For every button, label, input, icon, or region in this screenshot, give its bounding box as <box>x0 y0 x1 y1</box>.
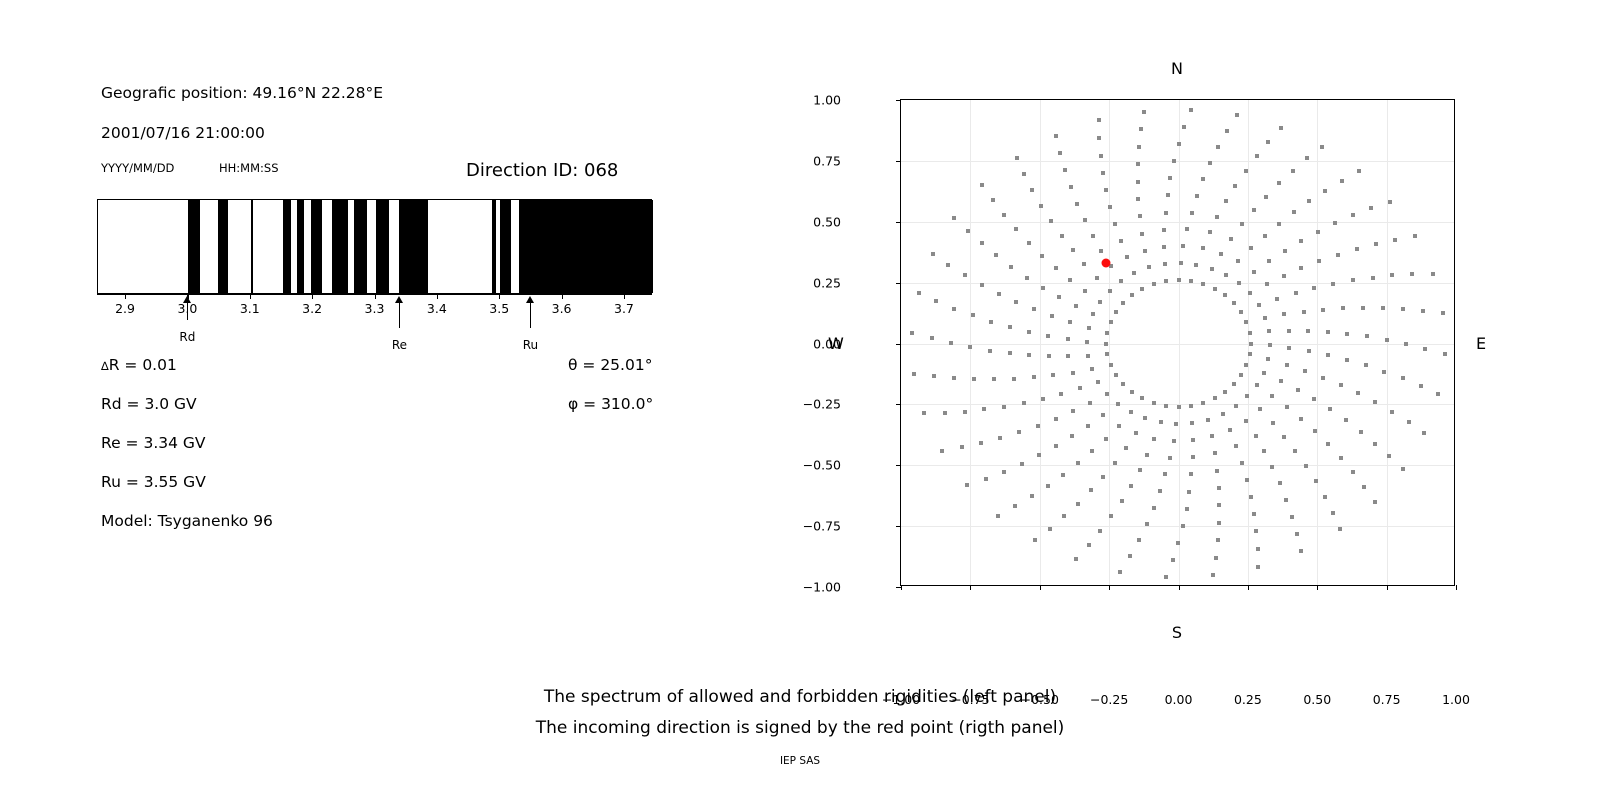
scatter-point <box>1266 357 1270 361</box>
scatter-point <box>1171 558 1175 562</box>
scatter-point <box>979 441 983 445</box>
direction-map-panel: −1.00−0.75−0.50−0.250.000.250.500.751.00… <box>760 0 1600 660</box>
scatter-point <box>1134 431 1138 435</box>
scatter-point <box>1285 405 1289 409</box>
spectrum-x-tick <box>375 294 376 299</box>
scatter-point <box>1015 156 1019 160</box>
scatter-point <box>989 320 993 324</box>
scatter-point <box>1152 437 1156 441</box>
compass-label-east: E <box>1476 334 1486 353</box>
scatter-point <box>1109 514 1113 518</box>
scatter-point <box>1355 247 1359 251</box>
scatter-point <box>1129 484 1133 488</box>
scatter-point <box>980 183 984 187</box>
scatter-point <box>952 216 956 220</box>
scatter-point <box>980 283 984 287</box>
scatter-point <box>1068 320 1072 324</box>
scatter-point <box>1058 151 1062 155</box>
scatter-point <box>1278 481 1282 485</box>
scatter-point <box>1008 351 1012 355</box>
scatter-point <box>1164 575 1168 579</box>
x-tick <box>1387 585 1388 590</box>
scatter-point <box>1142 110 1146 114</box>
scatter-point <box>1132 271 1136 275</box>
scatter-point <box>1359 430 1363 434</box>
scatter-point <box>1254 529 1258 533</box>
scatter-point <box>931 252 935 256</box>
spectrum-x-tick-label: 3.3 <box>365 301 385 316</box>
param-phi: φ = 310.0° <box>568 395 653 413</box>
scatter-point <box>1074 304 1078 308</box>
forbidden-band <box>188 200 199 293</box>
y-tick-label: 0.25 <box>813 275 841 290</box>
scatter-point <box>1333 221 1337 225</box>
scatter-point <box>1087 326 1091 330</box>
y-tick <box>896 161 901 162</box>
scatter-point <box>1002 405 1006 409</box>
compass-label-west: W <box>828 334 844 353</box>
param-ru: Ru = 3.55 GV <box>101 473 206 491</box>
scatter-point <box>930 336 934 340</box>
scatter-point <box>1262 449 1266 453</box>
scatter-point <box>1233 184 1237 188</box>
spectrum-x-tick-label: 3.6 <box>552 301 572 316</box>
scatter-point <box>1120 499 1124 503</box>
scatter-point <box>1248 331 1252 335</box>
scatter-point <box>1299 549 1303 553</box>
scatter-point <box>1331 511 1335 515</box>
x-tick-label: 1.00 <box>1442 692 1470 707</box>
scatter-point <box>1387 454 1391 458</box>
scatter-point <box>1013 504 1017 508</box>
scatter-point <box>1172 439 1176 443</box>
scatter-point <box>1085 340 1089 344</box>
scatter-point <box>1201 401 1205 405</box>
scatter-point <box>1237 281 1241 285</box>
y-tick <box>896 526 901 527</box>
scatter-point <box>1191 455 1195 459</box>
scatter-point <box>912 372 916 376</box>
scatter-point <box>1249 495 1253 499</box>
scatter-point <box>1027 353 1031 357</box>
scatter-point <box>1143 249 1147 253</box>
scatter-point <box>1047 354 1051 358</box>
spectrum-x-tick <box>312 294 313 299</box>
scatter-point <box>1270 394 1274 398</box>
scatter-point <box>1344 418 1348 422</box>
scatter-point <box>1113 461 1117 465</box>
y-tick-label: 1.00 <box>813 93 841 108</box>
scatter-point <box>1248 352 1252 356</box>
scatter-point <box>1130 390 1134 394</box>
scatter-point <box>1307 199 1311 203</box>
scatter-point <box>1158 489 1162 493</box>
forbidden-band <box>218 200 228 293</box>
scatter-point <box>1283 249 1287 253</box>
scatter-point <box>1070 434 1074 438</box>
scatter-point <box>1187 490 1191 494</box>
scatter-point <box>1211 573 1215 577</box>
rigidity-spectrum-bar <box>97 199 652 294</box>
scatter-point <box>1321 376 1325 380</box>
scatter-point <box>1365 334 1369 338</box>
scatter-point <box>1382 370 1386 374</box>
scatter-point <box>1217 486 1221 490</box>
scatter-point <box>1373 500 1377 504</box>
scatter-point <box>1177 405 1181 409</box>
gridline-horizontal <box>901 526 1454 527</box>
scatter-point <box>1101 171 1105 175</box>
incoming-direction-marker[interactable] <box>1102 259 1111 268</box>
scatter-point <box>1263 234 1267 238</box>
scatter-point <box>1361 306 1365 310</box>
scatter-point <box>968 345 972 349</box>
scatter-point <box>932 374 936 378</box>
scatter-point <box>1147 265 1151 269</box>
scatter-point <box>1229 237 1233 241</box>
scatter-point <box>1152 506 1156 510</box>
scatter-point <box>1252 208 1256 212</box>
scatter-point <box>1138 468 1142 472</box>
scatter-point <box>996 514 1000 518</box>
scatter-point <box>1140 396 1144 400</box>
scatter-point <box>1328 407 1332 411</box>
scatter-point <box>1326 442 1330 446</box>
scatter-point <box>1302 310 1306 314</box>
spectrum-x-tick-label: 3.4 <box>427 301 447 316</box>
scatter-point <box>1258 407 1262 411</box>
scatter-point <box>1351 470 1355 474</box>
scatter-point <box>1240 461 1244 465</box>
scatter-point <box>1022 172 1026 176</box>
rigidity-spectrum-panel: Geografic position: 49.16°N 22.28°E 2001… <box>0 0 760 660</box>
y-tick-label: −1.00 <box>803 580 841 595</box>
scatter-point <box>1098 300 1102 304</box>
scatter-point <box>1369 206 1373 210</box>
scatter-point <box>1063 168 1067 172</box>
scatter-point <box>1232 382 1236 386</box>
scatter-point <box>1182 125 1186 129</box>
gridline-vertical <box>1179 100 1180 585</box>
scatter-point <box>1027 241 1031 245</box>
scatter-point <box>1040 254 1044 258</box>
scatter-point <box>949 341 953 345</box>
scatter-point <box>1284 498 1288 502</box>
scatter-point <box>1223 293 1227 297</box>
scatter-point <box>1314 479 1318 483</box>
spectrum-bar-wrap <box>97 199 652 294</box>
scatter-point <box>1152 282 1156 286</box>
y-tick-label: −0.25 <box>803 397 841 412</box>
scatter-point <box>1245 394 1249 398</box>
scatter-point <box>1099 154 1103 158</box>
gridline-horizontal <box>901 283 1454 284</box>
scatter-point <box>1217 503 1221 507</box>
marker-arrowhead-ru <box>526 296 534 303</box>
scatter-point <box>1279 379 1283 383</box>
scatter-point <box>1049 219 1053 223</box>
scatter-point <box>1201 177 1205 181</box>
gridline-vertical <box>1040 100 1041 585</box>
scatter-point <box>1292 210 1296 214</box>
gridline-vertical <box>1387 100 1388 585</box>
scatter-point <box>1181 524 1185 528</box>
scatter-point <box>1275 297 1279 301</box>
scatter-point <box>1362 485 1366 489</box>
scatter-point <box>1108 289 1112 293</box>
scatter-point <box>1266 140 1270 144</box>
scatter-point <box>982 407 986 411</box>
scatter-point <box>972 377 976 381</box>
scatter-point <box>1364 363 1368 367</box>
marker-label-ru: Ru <box>523 338 538 352</box>
scatter-point <box>1050 314 1054 318</box>
scatter-point <box>1088 401 1092 405</box>
polar-scatter-plot: −1.00−0.75−0.50−0.250.000.250.500.751.00… <box>900 99 1455 586</box>
scatter-point <box>1039 204 1043 208</box>
scatter-point <box>1306 329 1310 333</box>
forbidden-band <box>251 200 253 293</box>
forbidden-band <box>354 200 367 293</box>
scatter-point <box>1341 306 1345 310</box>
scatter-point <box>1036 424 1040 428</box>
scatter-point <box>1128 554 1132 558</box>
scatter-point <box>1235 113 1239 117</box>
scatter-point <box>1295 532 1299 536</box>
x-tick <box>1248 585 1249 590</box>
param-theta: θ = 25.01° <box>568 356 652 374</box>
scatter-point <box>1020 462 1024 466</box>
scatter-point <box>1338 527 1342 531</box>
scatter-point <box>1443 352 1447 356</box>
scatter-point <box>1407 420 1411 424</box>
scatter-point <box>1176 541 1180 545</box>
scatter-point <box>1287 346 1291 350</box>
forbidden-band <box>500 200 512 293</box>
gridline-horizontal <box>901 465 1454 466</box>
scatter-point <box>998 436 1002 440</box>
scatter-point <box>1303 369 1307 373</box>
scatter-point <box>1032 375 1036 379</box>
scatter-point <box>1201 282 1205 286</box>
scatter-point <box>1287 329 1291 333</box>
scatter-point <box>1304 464 1308 468</box>
scatter-point <box>1340 179 1344 183</box>
forbidden-band <box>297 200 304 293</box>
scatter-point <box>1373 400 1377 404</box>
scatter-point <box>1181 244 1185 248</box>
y-tick <box>896 100 901 101</box>
scatter-point <box>1082 262 1086 266</box>
scatter-point <box>1189 472 1193 476</box>
scatter-point <box>1413 234 1417 238</box>
scatter-point <box>1423 347 1427 351</box>
scatter-point <box>965 483 969 487</box>
scatter-point <box>1041 397 1045 401</box>
scatter-point <box>1234 404 1238 408</box>
scatter-point <box>1125 255 1129 259</box>
scatter-point <box>917 291 921 295</box>
scatter-point <box>1075 202 1079 206</box>
scatter-point <box>1263 316 1267 320</box>
scatter-point <box>1022 401 1026 405</box>
scatter-point <box>1294 291 1298 295</box>
y-tick <box>896 465 901 466</box>
direction-id-label: Direction ID: 068 <box>466 160 618 181</box>
scatter-point <box>1313 429 1317 433</box>
marker-label-re: Re <box>392 338 407 352</box>
scatter-point <box>1163 262 1167 266</box>
gridline-vertical <box>1317 100 1318 585</box>
date-format-hint: YYYY/MM/DD <box>101 161 174 175</box>
scatter-point <box>1009 265 1013 269</box>
scatter-point <box>1255 383 1259 387</box>
scatter-point <box>1174 422 1178 426</box>
scatter-point <box>963 410 967 414</box>
scatter-point <box>1136 197 1140 201</box>
scatter-point <box>1017 430 1021 434</box>
scatter-point <box>1421 309 1425 313</box>
gridline-horizontal <box>901 161 1454 162</box>
spectrum-x-axis: 2.93.03.13.23.33.43.53.63.7RdReRu <box>97 294 652 296</box>
scatter-point <box>1194 263 1198 267</box>
scatter-point <box>1317 259 1321 263</box>
scatter-point <box>910 331 914 335</box>
scatter-point <box>1388 200 1392 204</box>
scatter-point <box>1290 515 1294 519</box>
scatter-point <box>1404 342 1408 346</box>
scatter-point <box>1097 118 1101 122</box>
scatter-point <box>1357 169 1361 173</box>
scatter-point <box>1152 401 1156 405</box>
scatter-point <box>971 313 975 317</box>
scatter-point <box>1217 521 1221 525</box>
scatter-point <box>1059 392 1063 396</box>
scatter-point <box>1441 311 1445 315</box>
scatter-point <box>1185 227 1189 231</box>
scatter-point <box>963 273 967 277</box>
scatter-point <box>1208 230 1212 234</box>
delta-r-value: R = 0.01 <box>109 356 177 374</box>
scatter-point <box>1027 330 1031 334</box>
scatter-point <box>1245 478 1249 482</box>
scatter-point <box>1054 266 1058 270</box>
forbidden-band <box>283 200 290 293</box>
scatter-point <box>1252 512 1256 516</box>
scatter-point <box>1285 363 1289 367</box>
x-tick-label: 0.50 <box>1303 692 1331 707</box>
scatter-point <box>934 299 938 303</box>
scatter-point <box>1265 282 1269 286</box>
scatter-point <box>1163 472 1167 476</box>
scatter-point <box>1224 273 1228 277</box>
scatter-point <box>1032 307 1036 311</box>
scatter-point <box>1371 276 1375 280</box>
scatter-point <box>1177 142 1181 146</box>
scatter-point <box>1255 154 1259 158</box>
scatter-point <box>1030 494 1034 498</box>
x-tick-label: −0.25 <box>1090 692 1128 707</box>
scatter-point <box>922 411 926 415</box>
marker-arrowhead-re <box>395 296 403 303</box>
scatter-point <box>1139 127 1143 131</box>
scatter-point <box>1190 421 1194 425</box>
scatter-point <box>1293 449 1297 453</box>
scatter-point <box>1191 438 1195 442</box>
scatter-point <box>1162 245 1166 249</box>
scatter-point <box>1326 353 1330 357</box>
scatter-point <box>1215 469 1219 473</box>
scatter-point <box>1076 502 1080 506</box>
y-tick <box>896 344 901 345</box>
scatter-point <box>952 307 956 311</box>
scatter-point <box>1177 278 1181 282</box>
scatter-point <box>1221 412 1225 416</box>
forbidden-band <box>399 200 429 293</box>
scatter-point <box>1051 373 1055 377</box>
scatter-point <box>1060 234 1064 238</box>
scatter-point <box>1172 159 1176 163</box>
scatter-point <box>1121 382 1125 386</box>
scatter-point <box>1401 467 1405 471</box>
scatter-point <box>1299 417 1303 421</box>
y-tick-label: −0.75 <box>803 519 841 534</box>
scatter-point <box>1097 136 1101 140</box>
scatter-point <box>1213 396 1217 400</box>
scatter-point <box>1321 308 1325 312</box>
scatter-point <box>1228 428 1232 432</box>
scatter-point <box>1216 538 1220 542</box>
gridline-horizontal <box>901 344 1454 345</box>
scatter-point <box>1206 418 1210 422</box>
scatter-point <box>1254 434 1258 438</box>
scatter-point <box>1356 391 1360 395</box>
scatter-point <box>1267 259 1271 263</box>
forbidden-band <box>311 200 322 293</box>
scatter-point <box>984 477 988 481</box>
scatter-point <box>1030 188 1034 192</box>
scatter-point <box>1257 303 1261 307</box>
scatter-point <box>1244 320 1248 324</box>
scatter-point <box>1145 522 1149 526</box>
scatter-point <box>1256 547 1260 551</box>
scatter-point <box>1002 213 1006 217</box>
scatter-point <box>1223 390 1227 394</box>
scatter-point <box>1312 286 1316 290</box>
scatter-point <box>1164 279 1168 283</box>
time-format-hint: HH:MM:SS <box>219 161 279 175</box>
scatter-point <box>1264 195 1268 199</box>
scatter-point <box>1401 307 1405 311</box>
scatter-point <box>1083 218 1087 222</box>
scatter-point <box>1140 232 1144 236</box>
scatter-point <box>1422 431 1426 435</box>
spectrum-x-tick <box>250 294 251 299</box>
scatter-point <box>1393 238 1397 242</box>
scatter-point <box>1117 424 1121 428</box>
scatter-point <box>1137 145 1141 149</box>
scatter-point <box>1339 383 1343 387</box>
scatter-point <box>1374 242 1378 246</box>
marker-label-rd: Rd <box>179 330 195 344</box>
scatter-point <box>1210 267 1214 271</box>
scatter-point <box>1054 134 1058 138</box>
scatter-point <box>1210 434 1214 438</box>
scatter-point <box>1062 514 1066 518</box>
scatter-point <box>1339 456 1343 460</box>
scatter-point <box>1249 246 1253 250</box>
scatter-point <box>946 263 950 267</box>
